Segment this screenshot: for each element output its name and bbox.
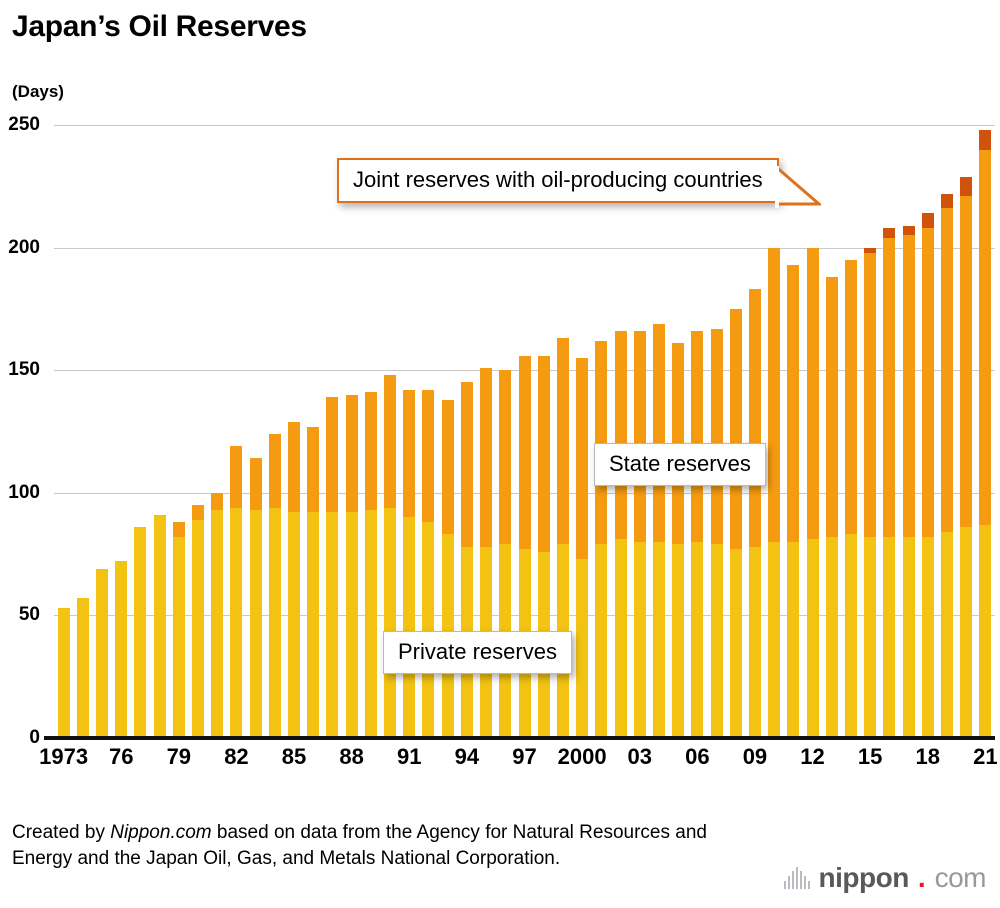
bar bbox=[538, 356, 550, 739]
bar bbox=[269, 434, 281, 738]
bar-segment bbox=[346, 512, 358, 738]
bar bbox=[115, 561, 127, 738]
bar bbox=[864, 248, 876, 738]
callout-joint-label: Joint reserves with oil-producing countr… bbox=[353, 167, 763, 192]
bar bbox=[442, 400, 454, 738]
bar bbox=[326, 397, 338, 738]
bar-segment bbox=[77, 598, 89, 738]
bar-segment bbox=[941, 532, 953, 738]
bar bbox=[365, 392, 377, 738]
bar bbox=[96, 569, 108, 738]
bar bbox=[979, 130, 991, 738]
bar-segment bbox=[883, 238, 895, 537]
bar-segment bbox=[787, 265, 799, 542]
bar-segment bbox=[864, 537, 876, 738]
bar bbox=[960, 177, 972, 738]
bar bbox=[192, 505, 204, 738]
source-note-brand: Nippon.com bbox=[110, 822, 211, 843]
bar-segment bbox=[538, 356, 550, 552]
x-axis-tick-label: 76 bbox=[109, 744, 133, 770]
bar-segment bbox=[346, 395, 358, 513]
bar-segment bbox=[211, 510, 223, 738]
bar-segment bbox=[768, 542, 780, 738]
bar-segment bbox=[211, 493, 223, 510]
bar-segment bbox=[711, 544, 723, 738]
bar bbox=[499, 370, 511, 738]
callout-private-label: Private reserves bbox=[398, 639, 557, 664]
bar bbox=[519, 356, 531, 739]
bar bbox=[634, 331, 646, 738]
bar bbox=[615, 331, 627, 738]
logo-bar bbox=[804, 876, 806, 889]
bar bbox=[250, 458, 262, 738]
bar bbox=[749, 289, 761, 738]
callout-private-reserves: Private reserves bbox=[383, 631, 572, 674]
bar bbox=[346, 395, 358, 738]
bar-segment bbox=[691, 331, 703, 542]
bar-segment bbox=[807, 248, 819, 540]
bar-segment bbox=[269, 434, 281, 508]
logo-dot: . bbox=[918, 862, 926, 894]
bar-segment bbox=[922, 537, 934, 738]
bar-segment bbox=[576, 559, 588, 738]
bar-segment bbox=[422, 390, 434, 522]
bar bbox=[461, 382, 473, 738]
y-axis-tick-label: 50 bbox=[19, 604, 40, 626]
bar-segment bbox=[730, 309, 742, 549]
bar-segment bbox=[960, 177, 972, 197]
x-axis-tick-label: 12 bbox=[800, 744, 824, 770]
callout-state-label: State reserves bbox=[609, 451, 751, 476]
bar-segment bbox=[960, 196, 972, 527]
bar-segment bbox=[96, 569, 108, 738]
bar bbox=[807, 248, 819, 738]
bar-segment bbox=[403, 517, 415, 738]
x-axis-tick-label: 1973 bbox=[39, 744, 88, 770]
bar bbox=[557, 338, 569, 738]
bar-segment bbox=[115, 561, 127, 738]
y-axis: 050100150200250 bbox=[0, 125, 48, 738]
bar-segment bbox=[365, 392, 377, 510]
bar-segment bbox=[941, 208, 953, 532]
bar bbox=[711, 329, 723, 738]
y-axis-tick-label: 100 bbox=[8, 482, 40, 504]
bar bbox=[691, 331, 703, 738]
bar-segment bbox=[960, 527, 972, 738]
bar-segment bbox=[499, 370, 511, 544]
bar bbox=[903, 226, 915, 738]
bar-segment bbox=[192, 520, 204, 738]
x-axis-tick-label: 97 bbox=[512, 744, 536, 770]
bar bbox=[288, 422, 300, 738]
bar bbox=[730, 309, 742, 738]
x-axis-tick-label: 94 bbox=[455, 744, 479, 770]
bar-segment bbox=[749, 547, 761, 738]
bar bbox=[845, 260, 857, 738]
bar-segment bbox=[307, 427, 319, 513]
logo-bar bbox=[808, 881, 810, 889]
bar-segment bbox=[230, 446, 242, 507]
bar bbox=[422, 390, 434, 738]
bar-segment bbox=[903, 537, 915, 738]
bar-segment bbox=[653, 542, 665, 738]
bar-segment bbox=[903, 226, 915, 236]
bar-segment bbox=[250, 510, 262, 738]
x-axis-tick-label: 15 bbox=[858, 744, 882, 770]
logo-bar bbox=[784, 881, 786, 889]
bar-segment bbox=[864, 253, 876, 537]
bar-segment bbox=[326, 512, 338, 738]
logo-bar bbox=[800, 871, 802, 889]
bar-segment bbox=[883, 228, 895, 238]
bar-segment bbox=[576, 358, 588, 559]
bar-segment bbox=[979, 150, 991, 525]
y-axis-tick-label: 150 bbox=[8, 359, 40, 381]
source-note-pre: Created by bbox=[12, 822, 110, 843]
callout-pointer-icon bbox=[775, 166, 821, 210]
bar-segment bbox=[519, 356, 531, 550]
bar-segment bbox=[403, 390, 415, 518]
bar-segment bbox=[134, 527, 146, 738]
bar-segment bbox=[442, 400, 454, 535]
bar-segment bbox=[941, 194, 953, 209]
bar bbox=[211, 493, 223, 738]
bar-segment bbox=[192, 505, 204, 520]
bar-segment bbox=[230, 508, 242, 738]
bar-segment bbox=[250, 458, 262, 509]
y-axis-tick-label: 200 bbox=[8, 237, 40, 259]
bar-segment bbox=[883, 537, 895, 738]
bar bbox=[576, 358, 588, 738]
bar-segment bbox=[480, 368, 492, 547]
bar bbox=[883, 228, 895, 738]
x-axis-tick-label: 21 bbox=[973, 744, 997, 770]
bar bbox=[384, 375, 396, 738]
bar-segment bbox=[711, 329, 723, 545]
bar bbox=[941, 194, 953, 738]
x-axis-tick-label: 18 bbox=[916, 744, 940, 770]
logo-bar bbox=[792, 871, 794, 889]
bar bbox=[134, 527, 146, 738]
bar-segment bbox=[326, 397, 338, 512]
bar-segment bbox=[173, 537, 185, 738]
callout-state-reserves: State reserves bbox=[594, 443, 766, 486]
bar-segment bbox=[58, 608, 70, 738]
bar-segment bbox=[154, 515, 166, 738]
y-axis-unit-label: (Days) bbox=[12, 82, 64, 102]
bar-segment bbox=[461, 382, 473, 546]
bar bbox=[230, 446, 242, 738]
bar bbox=[154, 515, 166, 738]
bar-segment bbox=[365, 510, 377, 738]
page-title: Japan’s Oil Reserves bbox=[12, 10, 307, 44]
x-axis-baseline bbox=[44, 736, 995, 740]
x-axis-tick-label: 03 bbox=[627, 744, 651, 770]
bar bbox=[672, 343, 684, 738]
bar-segment bbox=[384, 508, 396, 738]
bar bbox=[307, 427, 319, 738]
bar bbox=[480, 368, 492, 738]
bar-segment bbox=[730, 549, 742, 738]
x-axis-tick-label: 82 bbox=[224, 744, 248, 770]
bar-segment bbox=[634, 542, 646, 738]
bar bbox=[403, 390, 415, 738]
logo-tld: com bbox=[935, 862, 986, 894]
bar bbox=[595, 341, 607, 738]
bar bbox=[922, 213, 934, 738]
bar-segment bbox=[845, 534, 857, 738]
bar-segment bbox=[173, 522, 185, 537]
x-axis-tick-label: 79 bbox=[167, 744, 191, 770]
bar-segment bbox=[922, 213, 934, 228]
bar bbox=[653, 324, 665, 738]
callout-joint-reserves: Joint reserves with oil-producing countr… bbox=[337, 158, 779, 203]
x-axis-tick-label: 85 bbox=[282, 744, 306, 770]
y-axis-tick-label: 250 bbox=[8, 114, 40, 136]
bar-segment bbox=[826, 537, 838, 738]
bar-segment bbox=[807, 539, 819, 738]
bar-segment bbox=[787, 542, 799, 738]
bar-segment bbox=[595, 544, 607, 738]
logo-bars-icon bbox=[784, 867, 810, 889]
logo-bar bbox=[788, 876, 790, 889]
bar bbox=[787, 265, 799, 738]
bar bbox=[768, 248, 780, 738]
bar-segment bbox=[826, 277, 838, 537]
bar bbox=[77, 598, 89, 738]
bar bbox=[58, 608, 70, 738]
bar-segment bbox=[653, 324, 665, 542]
bar bbox=[173, 522, 185, 738]
bar-segment bbox=[922, 228, 934, 537]
x-axis-tick-label: 06 bbox=[685, 744, 709, 770]
x-axis-tick-label: 2000 bbox=[558, 744, 607, 770]
logo-word: nippon bbox=[819, 862, 909, 894]
bar-segment bbox=[384, 375, 396, 507]
nippon-com-logo[interactable]: nippon.com bbox=[784, 862, 986, 894]
x-axis-tick-label: 91 bbox=[397, 744, 421, 770]
bar-segment bbox=[557, 338, 569, 544]
x-axis-tick-label: 88 bbox=[339, 744, 363, 770]
bar-segment bbox=[979, 130, 991, 150]
x-axis-tick-label: 09 bbox=[743, 744, 767, 770]
bar-segment bbox=[672, 544, 684, 738]
bar-segment bbox=[749, 289, 761, 546]
source-note: Created by Nippon.com based on data from… bbox=[12, 820, 772, 871]
bar-segment bbox=[634, 331, 646, 542]
bar-segment bbox=[979, 525, 991, 738]
bar-segment bbox=[615, 331, 627, 539]
bar-segment bbox=[288, 422, 300, 513]
bar-segment bbox=[768, 248, 780, 542]
bar bbox=[826, 277, 838, 738]
bar-segment bbox=[288, 512, 300, 738]
logo-bar bbox=[796, 867, 798, 889]
bar-segment bbox=[615, 539, 627, 738]
bar-segment bbox=[269, 508, 281, 738]
bar-segment bbox=[845, 260, 857, 535]
x-axis: 19737679828588919497200003060912151821 bbox=[0, 744, 1000, 784]
bar-segment bbox=[307, 512, 319, 738]
bar-segment bbox=[903, 235, 915, 537]
bar-segment bbox=[691, 542, 703, 738]
